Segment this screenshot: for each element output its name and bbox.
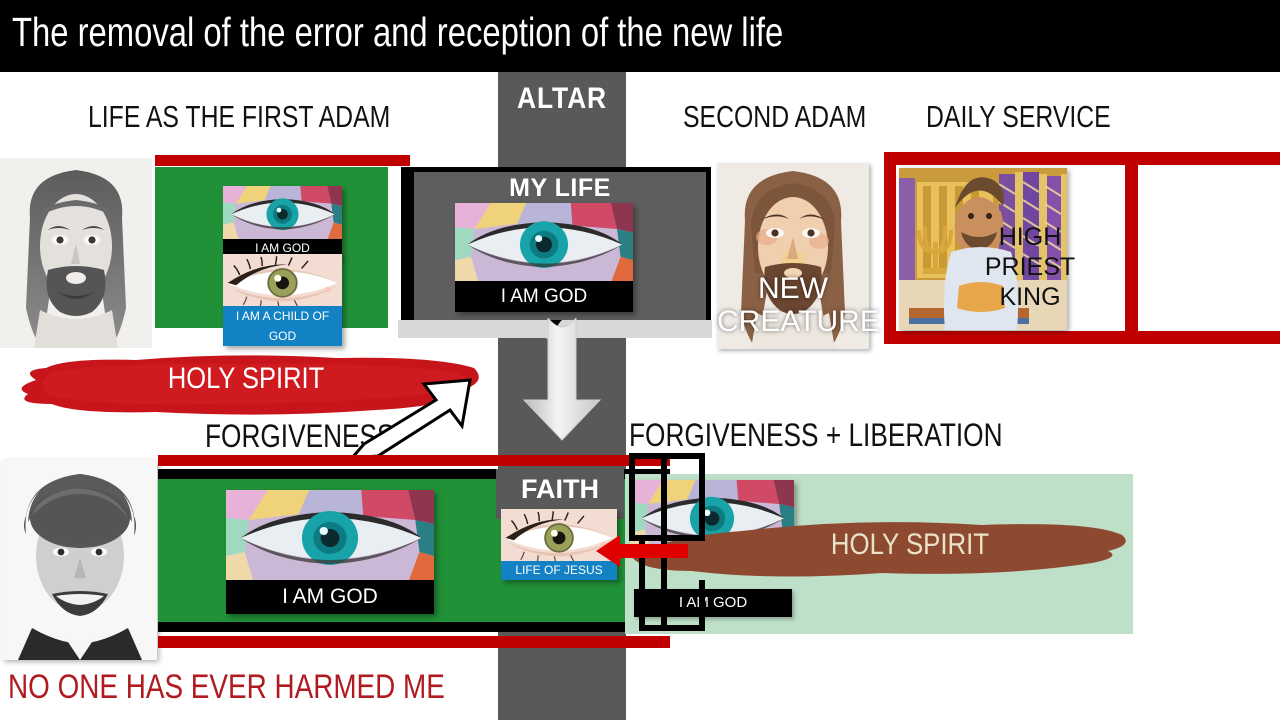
- eye-card-caption: I AM GOD: [455, 281, 633, 312]
- black-stripe-bottom: [158, 622, 670, 632]
- man-face-icon: [2, 460, 157, 660]
- priest-line2: PRIEST: [985, 253, 1075, 281]
- eye-card-i-am-a-child-of-god[interactable]: I AM A CHILD OF GOD: [223, 254, 342, 346]
- page-title: The removal of the error and reception o…: [12, 9, 783, 56]
- my-life-title: MY LIFE: [414, 174, 706, 203]
- arrow-down-shape: [496, 318, 628, 442]
- daily-service-frame-left: [884, 152, 896, 344]
- new-creature-line1: NEW: [758, 272, 828, 305]
- gray-arrow-down-icon: [496, 318, 628, 442]
- arrow-left-shape: [596, 533, 688, 569]
- column-heading-daily-service: DAILY SERVICE: [926, 99, 1111, 135]
- eye-card-i-am-god-bottom[interactable]: I AM GOD: [226, 490, 434, 614]
- jesus-watercolor-grayscale-image: [0, 158, 152, 348]
- faith-title: FAITH: [496, 474, 624, 505]
- eye-card-my-life[interactable]: I AM GOD: [455, 203, 633, 312]
- footer-statement: NO ONE HAS EVER HARMED ME: [8, 668, 445, 707]
- red-accent-bar-top-left: [155, 155, 410, 166]
- daily-service-frame-middle: [1125, 152, 1138, 344]
- red-stripe-top: [158, 455, 670, 466]
- column-heading-second-adam: SECOND ADAM: [683, 99, 866, 135]
- red-stripe-bottom: [158, 636, 670, 648]
- new-creature-line2: CREATURE: [717, 305, 880, 338]
- column-heading-first-adam: LIFE AS THE FIRST ADAM: [88, 99, 390, 135]
- eye-card-caption: I AM A CHILD OF GOD: [223, 306, 342, 346]
- new-creature-label: NEW CREATURE: [717, 272, 869, 338]
- daily-service-frame-top: [884, 152, 1280, 165]
- eye-card-i-am-god-top[interactable]: I AM GOD: [223, 186, 342, 258]
- eye-card-caption: I AM GOD: [226, 580, 434, 614]
- holy-spirit-brown-label: HOLY SPIRIT: [781, 528, 1039, 562]
- priest-line1: HIGH: [999, 223, 1062, 251]
- altar-label: ALTAR: [506, 82, 619, 116]
- white-outline-arrow-up-right-icon: [350, 378, 474, 462]
- grayscale-face-icon: [0, 158, 152, 348]
- red-arrow-left-icon: [596, 533, 688, 569]
- forgiveness-liberation-label: FORGIVENESS + LIBERATION: [629, 417, 1003, 454]
- human-eye-icon: [223, 254, 342, 306]
- daily-service-frame-bottom: [884, 331, 1280, 344]
- abstract-eye-icon: [455, 203, 633, 281]
- abstract-eye-icon: [223, 186, 342, 239]
- man-photo-grayscale-image: [2, 460, 157, 660]
- high-priest-king-label: HIGH PRIEST KING: [978, 222, 1082, 312]
- priest-line3: KING: [999, 283, 1060, 311]
- arrow-up-right-shape: [350, 378, 474, 462]
- abstract-eye-icon: [226, 490, 434, 580]
- slide-canvas: The removal of the error and reception o…: [0, 0, 1280, 720]
